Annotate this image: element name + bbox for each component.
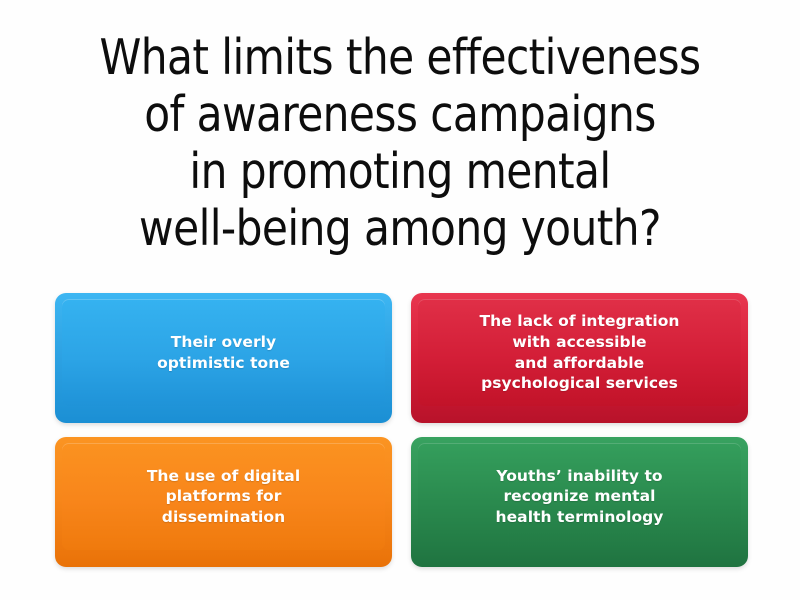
answer-option-b[interactable]: The lack of integration with accessible … [411, 293, 748, 423]
answer-option-d-label: Youths’ inability to recognize mental he… [496, 466, 664, 528]
answer-options-grid: Their overly optimistic tone The lack of… [55, 293, 748, 567]
answer-option-a[interactable]: Their overly optimistic tone [55, 293, 392, 423]
question-text: What limits the effectiveness of awarene… [100, 30, 701, 257]
answer-option-a-face: Their overly optimistic tone [62, 299, 385, 406]
answer-option-b-face: The lack of integration with accessible … [418, 299, 741, 406]
answer-option-d-face: Youths’ inability to recognize mental he… [418, 443, 741, 550]
quiz-stage: What limits the effectiveness of awarene… [0, 0, 800, 600]
question-area: What limits the effectiveness of awarene… [0, 14, 800, 274]
answer-option-c[interactable]: The use of digital platforms for dissemi… [55, 437, 392, 567]
answer-option-a-label: Their overly optimistic tone [157, 332, 290, 373]
answer-option-b-label: The lack of integration with accessible … [480, 311, 680, 393]
answer-option-c-label: The use of digital platforms for dissemi… [147, 466, 300, 528]
answer-option-c-face: The use of digital platforms for dissemi… [62, 443, 385, 550]
answer-option-d[interactable]: Youths’ inability to recognize mental he… [411, 437, 748, 567]
